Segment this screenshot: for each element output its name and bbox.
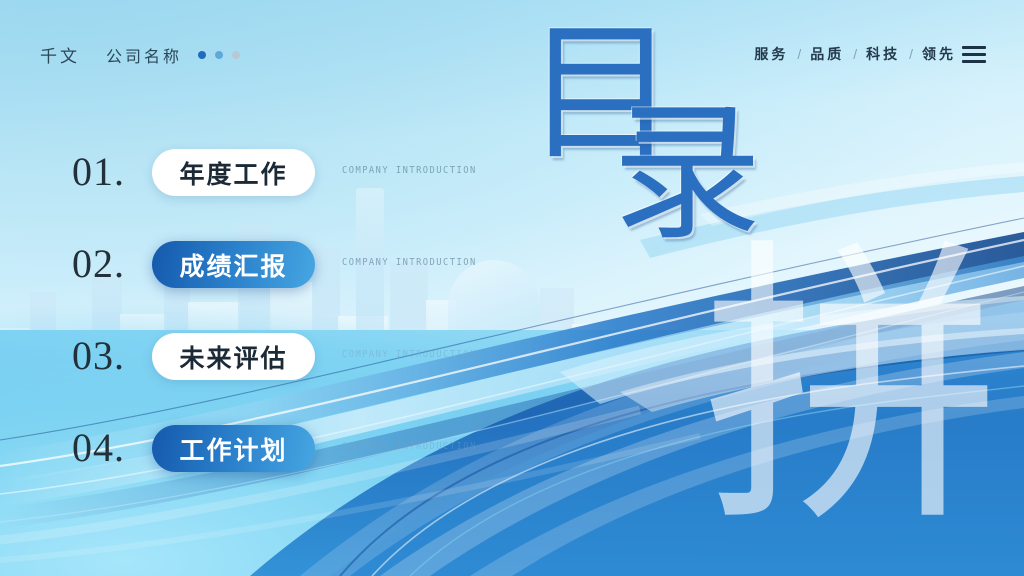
list-item[interactable]: 02. 成绩汇报 COMPANY INTRODUCTION — [0, 232, 560, 324]
nav-item-leading[interactable]: 领先 — [922, 44, 956, 64]
dot-secondary — [215, 51, 223, 59]
agenda-pill-02[interactable]: 成绩汇报 — [152, 241, 315, 288]
dot-tertiary — [232, 51, 240, 59]
hamburger-menu-icon[interactable] — [962, 46, 986, 63]
dot-primary — [198, 51, 206, 59]
agenda-caption-04: COMPANY INTRODUCTION — [342, 441, 477, 452]
brand-logo-text: 千文 — [40, 42, 80, 67]
presentation-slide: 拼 千文 公司名称 服务 / 品质 / 科技 / 领先 — [0, 0, 1024, 576]
list-item[interactable]: 04. 工作计划 COMPANY INTRODUCTION — [0, 416, 560, 508]
agenda-pill-04[interactable]: 工作计划 — [152, 425, 315, 472]
brand-dots — [198, 51, 240, 59]
agenda-caption-03: COMPANY INTRODUCTION — [342, 349, 477, 360]
agenda-caption-02: COMPANY INTRODUCTION — [342, 257, 477, 268]
nav-separator: / — [797, 46, 801, 62]
slide-header: 千文 公司名称 服务 / 品质 / 科技 / 领先 — [0, 0, 1024, 96]
nav-separator: / — [853, 46, 857, 62]
agenda-number-03: 03. — [72, 336, 125, 376]
agenda-number-01: 01. — [72, 152, 125, 192]
nav-item-technology[interactable]: 科技 — [866, 44, 900, 64]
nav-item-service[interactable]: 服务 — [754, 44, 788, 64]
list-item[interactable]: 01. 年度工作 COMPANY INTRODUCTION — [0, 140, 560, 232]
hamburger-line — [962, 60, 986, 63]
list-item[interactable]: 03. 未来评估 COMPANY INTRODUCTION — [0, 324, 560, 416]
agenda-caption-01: COMPANY INTRODUCTION — [342, 165, 477, 176]
hamburger-line — [962, 46, 986, 49]
agenda-number-04: 04. — [72, 428, 125, 468]
agenda-pill-01[interactable]: 年度工作 — [152, 149, 315, 196]
hamburger-line — [962, 53, 986, 56]
nav-separator: / — [909, 46, 913, 62]
company-name-label: 公司名称 — [106, 43, 182, 67]
nav-item-quality[interactable]: 品质 — [810, 44, 844, 64]
agenda-pill-03[interactable]: 未来评估 — [152, 333, 315, 380]
agenda-list: 01. 年度工作 COMPANY INTRODUCTION 02. 成绩汇报 C… — [0, 140, 560, 508]
agenda-number-02: 02. — [72, 244, 125, 284]
top-navigation[interactable]: 服务 / 品质 / 科技 / 领先 — [754, 44, 986, 64]
brand-block: 千文 公司名称 — [40, 42, 240, 67]
